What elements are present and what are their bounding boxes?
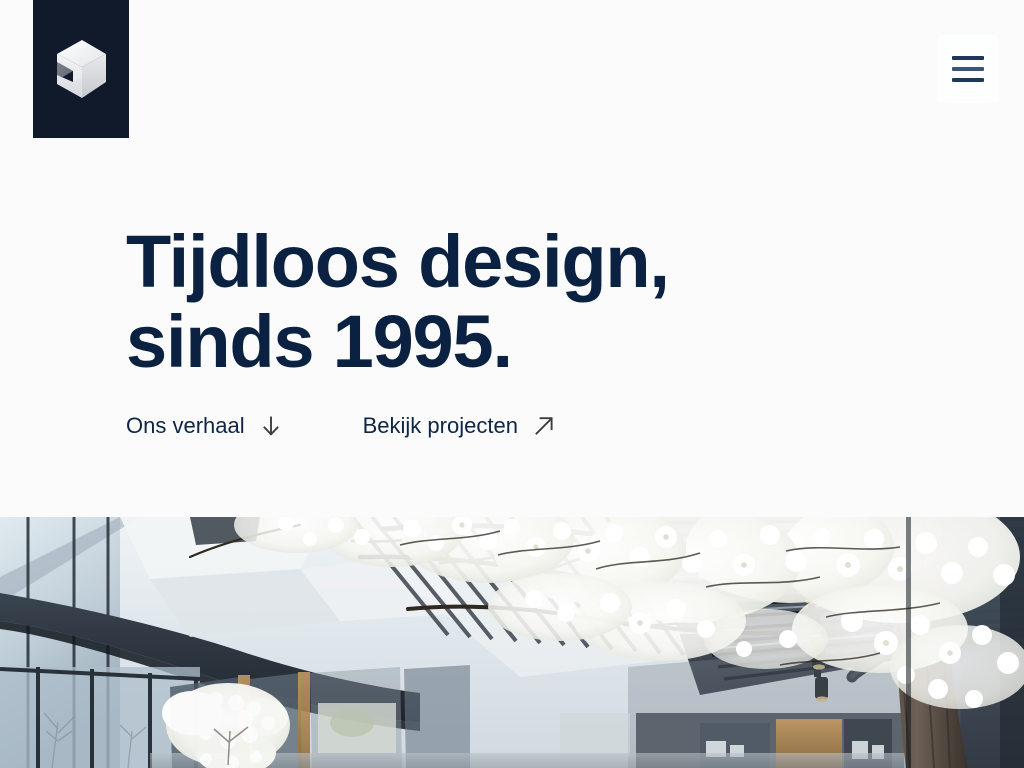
page-root: Tijdloos design, sinds 1995. Ons verhaal… xyxy=(0,0,1024,768)
hero-section: Tijdloos design, sinds 1995. Ons verhaal… xyxy=(0,140,1024,517)
showroom-interior-photo xyxy=(0,517,1024,768)
page-title: Tijdloos design, sinds 1995. xyxy=(126,222,886,382)
hamburger-menu-icon xyxy=(952,56,984,60)
hero-link-bekijk-projecten[interactable]: Bekijk projecten xyxy=(363,414,556,438)
hero-actions: Ons verhaal Bekijk projecten xyxy=(126,414,886,438)
arrow-down-icon xyxy=(259,414,283,438)
menu-button[interactable] xyxy=(938,35,998,103)
hero-link-ons-verhaal[interactable]: Ons verhaal xyxy=(126,414,283,438)
site-header xyxy=(0,0,1024,140)
isometric-cube-logo xyxy=(53,37,109,101)
arrow-up-right-icon xyxy=(532,414,556,438)
hamburger-menu-icon-bar-bottom xyxy=(952,78,984,82)
hero-link-label: Bekijk projecten xyxy=(363,415,518,437)
hero-link-label: Ons verhaal xyxy=(126,415,245,437)
hero-content: Tijdloos design, sinds 1995. Ons verhaal… xyxy=(126,222,886,438)
brand-logo[interactable] xyxy=(33,0,129,138)
hamburger-menu-icon-bar-middle xyxy=(952,67,984,71)
